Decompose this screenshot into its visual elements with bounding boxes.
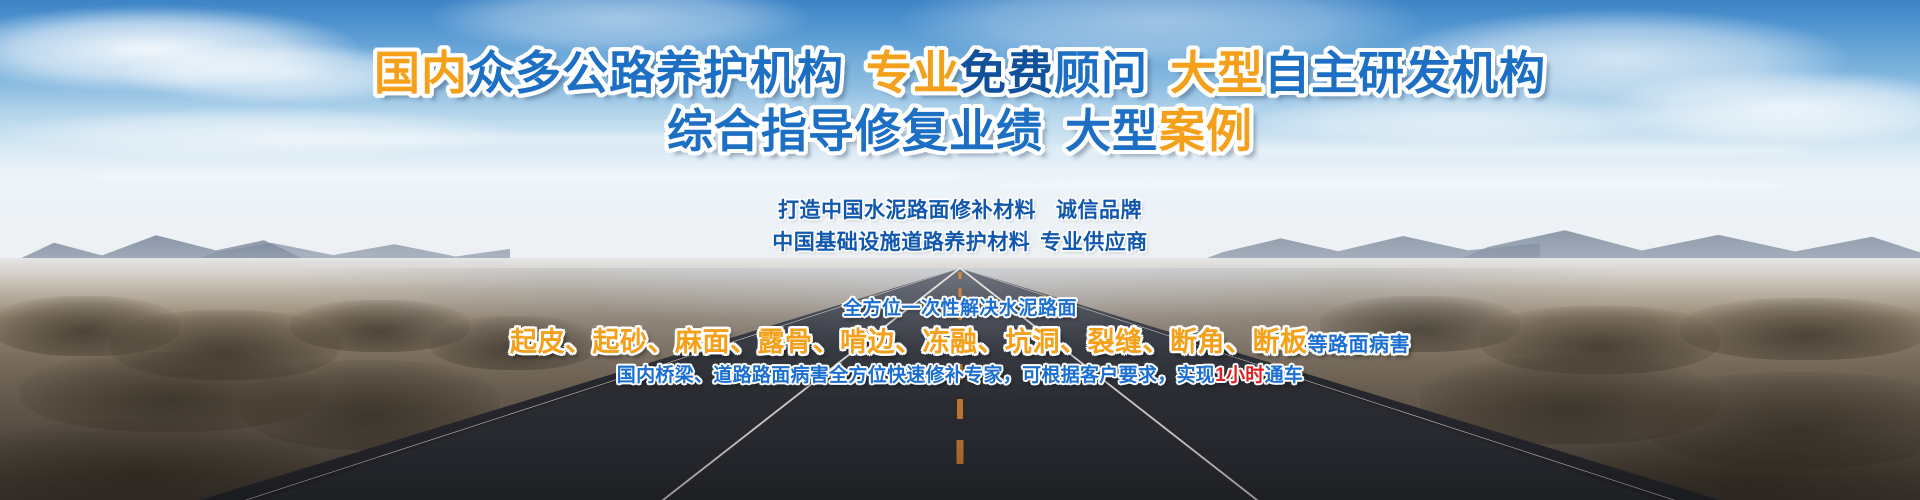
headline-seg-0: 国内	[374, 47, 468, 99]
subtitle-1b: 诚信品牌	[1056, 199, 1142, 222]
subtitle-line-1: 打造中国水泥路面修补材料诚信品牌	[0, 194, 1920, 224]
headline-seg-3: 专业	[866, 47, 960, 99]
promotional-banner: 国内众多公路养护机构专业免费顾问大型自主研发机构 综合指导修复业绩大型案例 打造…	[0, 0, 1920, 500]
bottom-line-3a: 国内桥梁、道路路面病害全方位快速修补专家，可根据客户要求，实现	[617, 365, 1215, 386]
headline2-seg-2: 大型	[1065, 105, 1159, 157]
bottom-diseases-list: 起皮、起砂、麻面、露骨、啃边、冻融、坑洞、裂缝、断角、断板	[510, 327, 1308, 357]
headline-line-1: 国内众多公路养护机构专业免费顾问大型自主研发机构	[0, 50, 1920, 96]
subtitle-2a: 中国基础设施道路养护材料	[772, 231, 1030, 254]
headline-seg-4: 免费	[960, 47, 1054, 99]
headline-seg-7: 大型	[1170, 47, 1264, 99]
bottom-line-1-text: 全方位一次性解决水泥路面	[843, 298, 1077, 319]
subtitle-1a: 打造中国水泥路面修补材料	[778, 199, 1036, 222]
bottom-line-3-highlight: 1小时	[1215, 365, 1264, 386]
bottom-line-3b: 通车	[1265, 365, 1304, 386]
headline-line-2: 综合指导修复业绩大型案例	[0, 108, 1920, 154]
bottom-line-3: 国内桥梁、道路路面病害全方位快速修补专家，可根据客户要求，实现1小时通车	[0, 360, 1920, 387]
cloud-wisp	[980, 178, 1800, 192]
headline-seg-1: 众多公路养护机构	[468, 47, 844, 99]
cloud-wisp	[80, 168, 980, 184]
headline-seg-5: 顾问	[1054, 47, 1148, 99]
headline2-seg-3: 案例	[1159, 105, 1253, 157]
bottom-line-2: 起皮、起砂、麻面、露骨、啃边、冻融、坑洞、裂缝、断角、断板等路面病害	[0, 320, 1920, 359]
subtitle-2b: 专业供应商	[1040, 231, 1148, 254]
subtitle-line-2: 中国基础设施道路养护材料专业供应商	[0, 226, 1920, 256]
headline-seg-8: 自主研发机构	[1264, 47, 1546, 99]
bottom-line-1: 全方位一次性解决水泥路面	[0, 293, 1920, 320]
headline2-seg-0: 综合指导修复业绩	[667, 105, 1043, 157]
bottom-diseases-suffix: 等路面病害	[1308, 334, 1411, 356]
